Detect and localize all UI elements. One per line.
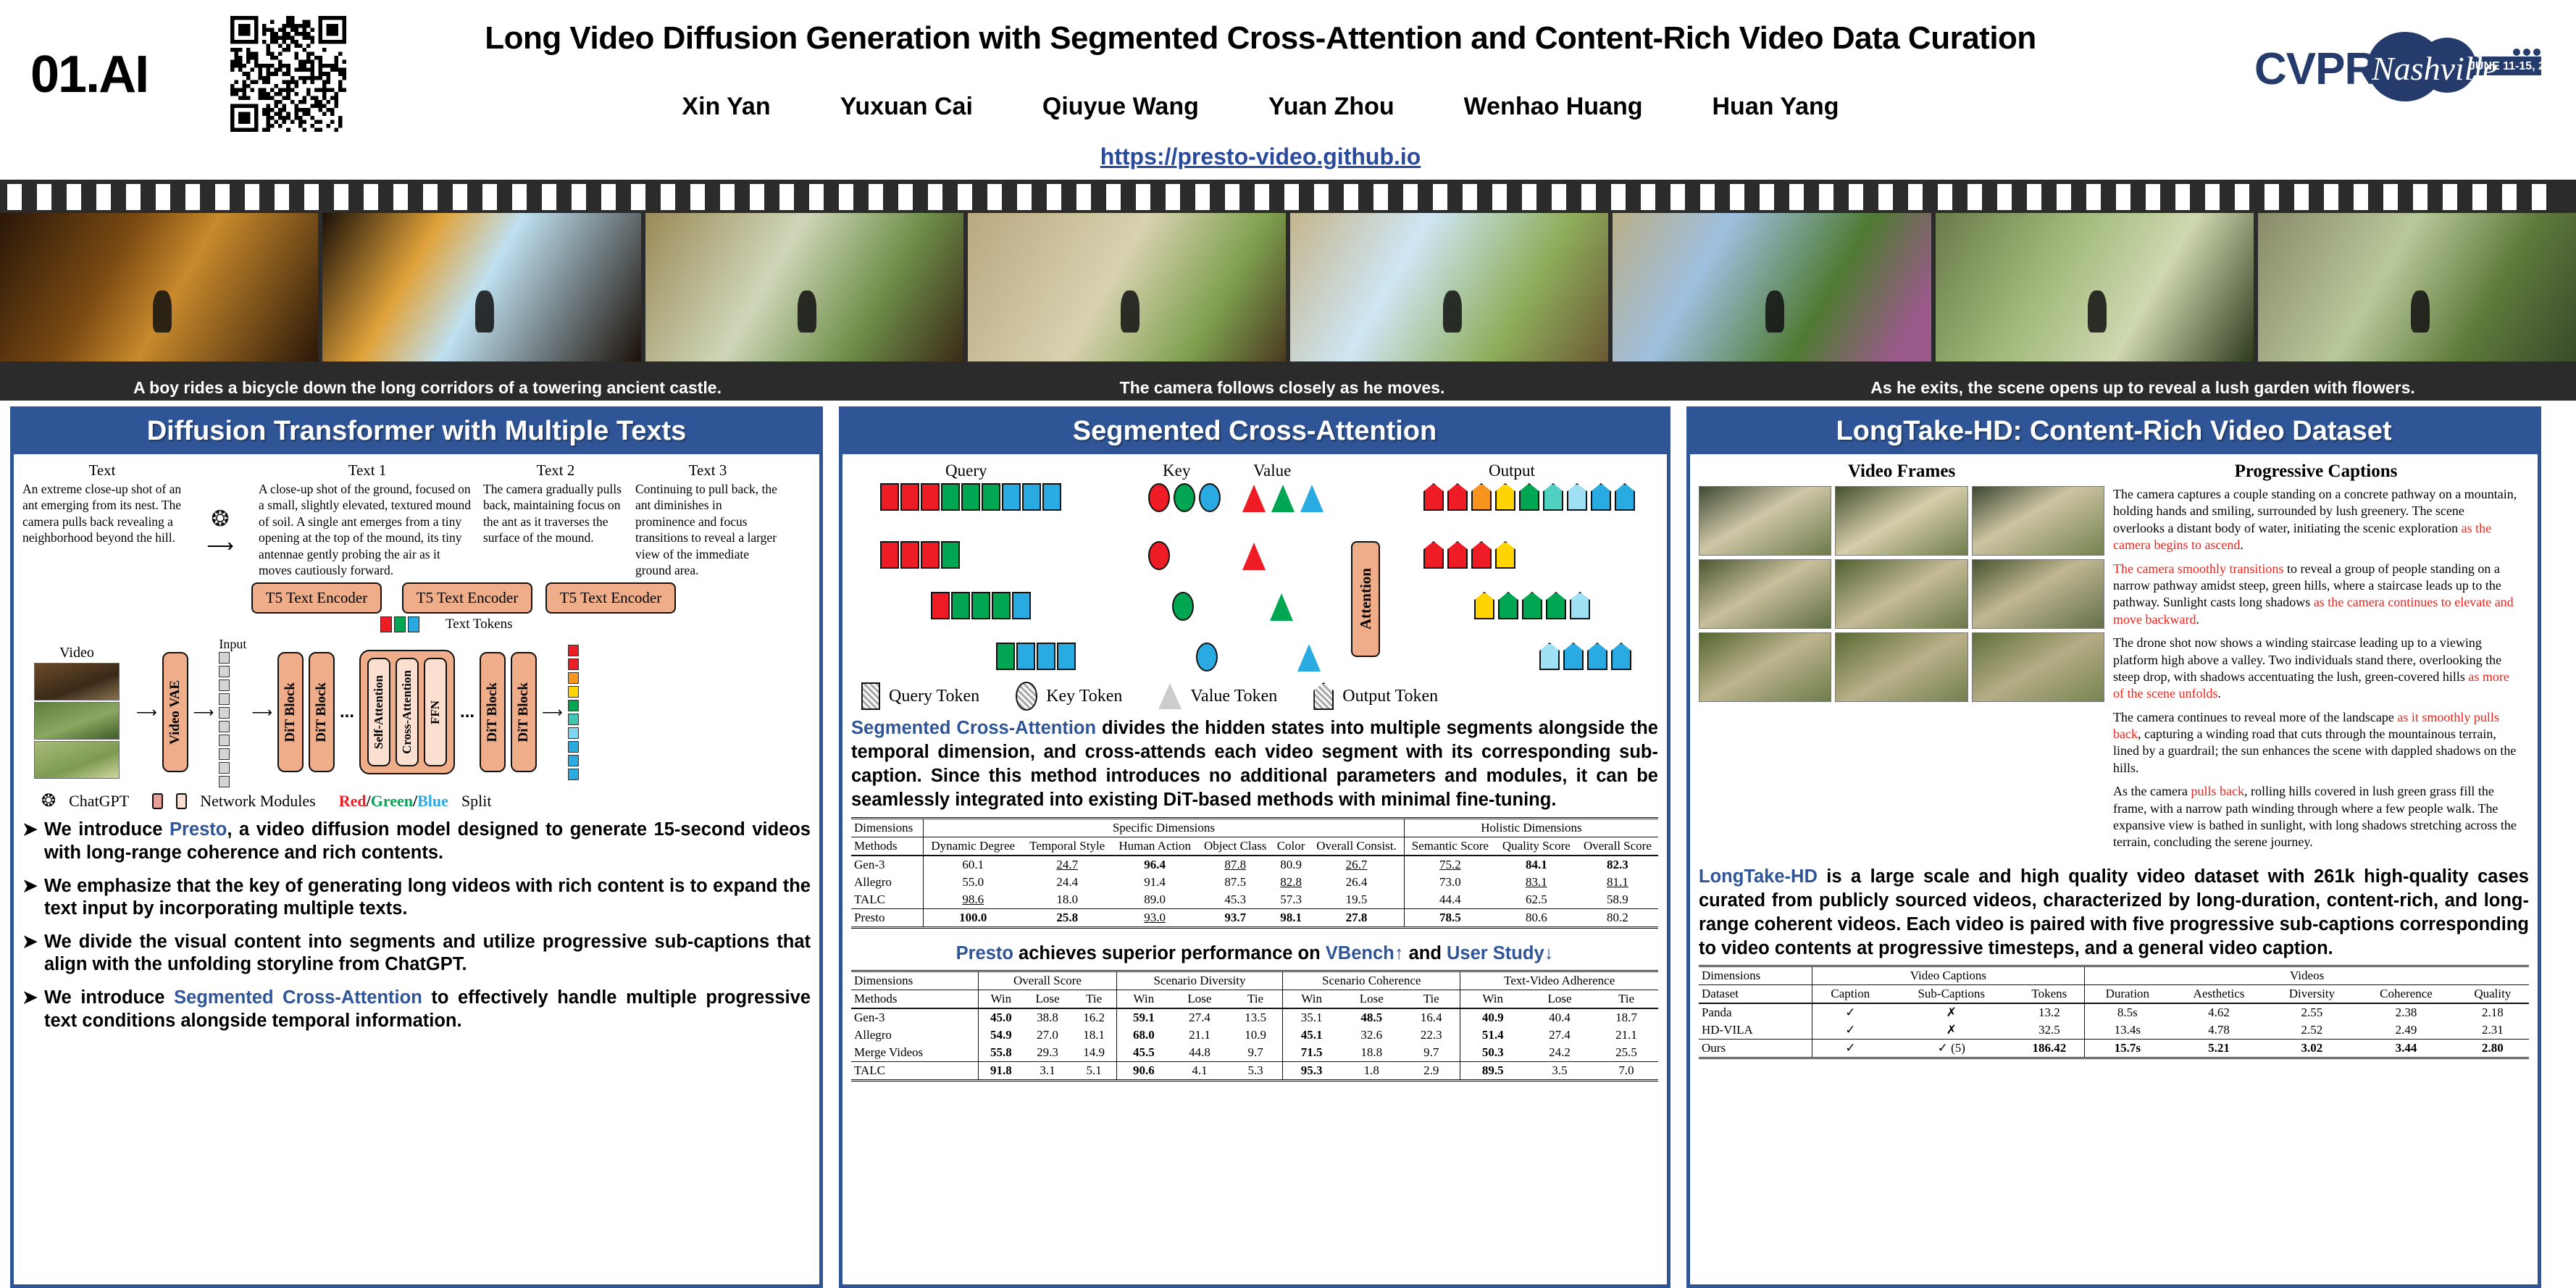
longtake-summary: LongTake-HD is a large scale and high qu…	[1699, 865, 2529, 961]
token-legend: Query Token Key Token Value Token Output…	[851, 682, 1658, 711]
film-perforation	[1641, 184, 1655, 210]
film-perforation	[2146, 184, 2160, 210]
panel-body-mid: Query Key Value Output Attention	[842, 454, 1667, 1284]
input-latent-token	[219, 721, 230, 732]
query-token	[1042, 483, 1061, 511]
project-url-link[interactable]: https://presto-video.github.io	[362, 143, 2159, 170]
input-latent-token	[219, 707, 230, 719]
output-token	[1539, 643, 1560, 670]
query-token	[1012, 592, 1031, 619]
bullet-arrow-icon: ➤	[22, 931, 38, 977]
film-frame-2	[322, 213, 640, 361]
user-study-table: DimensionsOverall ScoreScenario Diversit…	[851, 970, 1658, 1084]
attention-block: Attention	[1351, 541, 1380, 657]
author-name: Huan Yang	[1713, 93, 1839, 121]
film-perforation	[2383, 184, 2398, 210]
video-frame-thumb-3	[1972, 486, 2104, 556]
film-frame-3	[645, 213, 963, 361]
film-perforation	[572, 184, 586, 210]
output-token	[1474, 592, 1494, 619]
film-perforation	[37, 184, 51, 210]
token-green	[394, 616, 406, 632]
panel-body-right: Video Frames Progressive Captions The ca…	[1690, 454, 2538, 1284]
dit-block-expanded: Self-Attention Cross-Attention FFN	[359, 650, 455, 774]
film-perforation	[2116, 184, 2130, 210]
film-perforation	[631, 184, 645, 210]
dit-block-4: DiT Block	[511, 652, 537, 772]
author-name: Qiuyue Wang	[1042, 93, 1199, 121]
film-perforation	[1819, 184, 1833, 210]
bullet-item: ➤ We emphasize that the key of generatin…	[22, 875, 811, 921]
text-col-body: A close-up shot of the ground, focused o…	[259, 481, 476, 578]
dit-block-label: DiT Block	[283, 682, 298, 743]
film-perforation	[542, 184, 556, 210]
value-token-row	[1242, 485, 1323, 512]
text-col-heading: Text 2	[483, 461, 628, 480]
input-label: Input	[219, 637, 246, 652]
film-perforation	[690, 184, 705, 210]
cross-attention-label: Cross-Attention	[400, 670, 414, 754]
query-token	[880, 483, 899, 511]
film-perforation	[2502, 184, 2517, 210]
film-perforation	[1106, 184, 1121, 210]
sca-description-highlight: Segmented Cross-Attention	[851, 718, 1096, 738]
text-column-3: Text 3 Continuing to pull back, the ant …	[635, 461, 780, 578]
film-perforation	[1581, 184, 1596, 210]
film-perforation	[334, 184, 348, 210]
query-segment-1	[880, 541, 960, 569]
token-red	[380, 616, 392, 632]
legend-module-swatch-light	[176, 793, 187, 809]
panel-segmented-cross-attention: Segmented Cross-Attention Query Key Valu…	[839, 406, 1670, 1288]
output-label: Output	[1489, 461, 1535, 480]
output-token-icon	[1313, 682, 1334, 710]
page-title: Long Video Diffusion Generation with Seg…	[362, 20, 2159, 57]
film-perforation	[423, 184, 438, 210]
longtake-summary-highlight: LongTake-HD	[1699, 866, 1818, 887]
key-segment-2	[1172, 592, 1194, 624]
text-col-body: The camera gradually pulls back, maintai…	[483, 481, 628, 546]
key-label: Key	[1163, 461, 1190, 480]
legend-blue-label: Blue	[417, 792, 448, 810]
input-latent-token	[219, 748, 230, 760]
author-name: Xin Yan	[682, 93, 770, 121]
text-column-1: Text 1 A close-up shot of the ground, fo…	[259, 461, 476, 578]
film-perforation	[1166, 184, 1180, 210]
claim-mid: achieves superior performance on	[1013, 943, 1326, 963]
text-token-swatches	[380, 616, 419, 632]
arrow-to-output-icon: ⟶	[542, 703, 563, 722]
output-token	[1546, 592, 1566, 619]
film-perforation	[869, 184, 883, 210]
left-bullet-list: ➤ We introduce Presto, a video diffusion…	[22, 819, 811, 1032]
video-thumb-1	[34, 663, 120, 701]
video-frame-thumb-2	[1835, 486, 1967, 556]
query-token	[900, 541, 919, 569]
film-caption-3: As he exits, the scene opens up to revea…	[1710, 376, 2576, 399]
key-token	[1148, 483, 1170, 512]
progressive-caption-5: As the camera pulls back, rolling hills …	[2113, 783, 2519, 851]
output-segment-1	[1423, 541, 1515, 569]
cyclist-silhouette	[1443, 290, 1462, 333]
film-perforation	[898, 184, 913, 210]
film-frame-5	[1290, 213, 1608, 361]
output-token	[1591, 483, 1611, 511]
film-perforation	[1670, 184, 1685, 210]
input-latent-token	[219, 776, 230, 787]
film-perforation	[1314, 184, 1329, 210]
film-perforation	[215, 184, 230, 210]
film-perforation	[393, 184, 408, 210]
film-caption-text: The camera follows closely as he moves.	[1120, 378, 1445, 398]
film-perforation	[1463, 184, 1477, 210]
query-token	[941, 483, 960, 511]
film-perforation	[1017, 184, 1032, 210]
film-perforation	[2205, 184, 2220, 210]
film-perforation	[1611, 184, 1626, 210]
claim-vbench: VBench↑	[1326, 943, 1404, 963]
text-column-2: Text 2 The camera gradually pulls back, …	[483, 461, 628, 546]
output-token	[568, 686, 579, 698]
panel-title-right: LongTake-HD: Content-Rich Video Dataset	[1690, 410, 2538, 454]
film-perforation	[2175, 184, 2190, 210]
film-perforation	[453, 184, 467, 210]
query-token	[1016, 643, 1035, 670]
film-perforation	[2235, 184, 2249, 210]
output-token	[1570, 592, 1590, 619]
org-logo: 01.AI	[30, 45, 148, 104]
cyclist-silhouette	[1121, 290, 1139, 333]
film-perforation	[156, 184, 170, 210]
query-segment-2	[931, 592, 1031, 619]
output-token	[1567, 483, 1587, 511]
ffn-label: FFN	[428, 701, 443, 724]
author-list: Xin Yan Yuxuan Cai Qiuyue Wang Yuan Zhou…	[362, 93, 2159, 121]
film-perforation	[1849, 184, 1863, 210]
value-token	[1300, 485, 1323, 512]
text-tokens-label: Text Tokens	[446, 616, 513, 632]
value-segment-1	[1242, 543, 1266, 574]
text-col-heading: Text 1	[259, 461, 476, 480]
dit-block-label: DiT Block	[485, 682, 501, 743]
query-token	[982, 483, 1000, 511]
progressive-captions-column: Progressive Captions The camera captures…	[2113, 461, 2519, 858]
bullet-highlight: Presto	[170, 819, 227, 840]
film-caption-1: A boy rides a bicycle down the long corr…	[0, 376, 855, 399]
dit-block-label: DiT Block	[314, 682, 330, 743]
output-token	[1471, 483, 1492, 511]
film-frames	[0, 213, 2576, 361]
bullet-item: ➤ We divide the visual content into segm…	[22, 931, 811, 977]
panel-longtake-hd: LongTake-HD: Content-Rich Video Dataset …	[1686, 406, 2541, 1288]
input-latent-token	[219, 679, 230, 691]
t5-encoder-row: T5 Text Encoder T5 Text Encoder T5 Text …	[22, 582, 811, 614]
self-attention-label: Self-Attention	[372, 675, 386, 749]
output-token	[1423, 483, 1444, 511]
claim-line: Presto achieves superior performance on …	[851, 942, 1658, 966]
film-perforation	[1195, 184, 1210, 210]
film-perforation	[2354, 184, 2368, 210]
film-perforation	[1433, 184, 1447, 210]
sca-diagram: Query Key Value Output Attention	[851, 461, 1658, 679]
legend-chatgpt-label: ChatGPT	[69, 792, 129, 811]
film-perforation	[126, 184, 141, 210]
output-token	[1543, 483, 1563, 511]
video-frame-thumb-8	[1835, 632, 1967, 702]
video-frames-column: Video Frames	[1699, 461, 2104, 858]
film-perforation	[512, 184, 527, 210]
progressive-caption-4: The camera continues to reveal more of t…	[2113, 709, 2519, 777]
dit-block-3: DiT Block	[480, 652, 506, 772]
input-token-stack	[219, 652, 246, 787]
output-token	[568, 741, 579, 753]
video-frame-thumb-4	[1699, 559, 1831, 629]
film-perforation	[2265, 184, 2279, 210]
output-token	[1498, 592, 1518, 619]
t5-text-encoder-2: T5 Text Encoder	[402, 582, 532, 614]
film-perforation	[1730, 184, 1744, 210]
output-token	[1587, 643, 1607, 670]
bullet-text-pre: We divide the visual content into segmen…	[44, 931, 811, 977]
cyclist-silhouette	[1765, 290, 1784, 333]
film-perforation	[1878, 184, 1893, 210]
output-token	[1522, 592, 1542, 619]
legend-red-label: Red	[339, 792, 367, 810]
output-token	[1615, 483, 1635, 511]
film-perforation	[185, 184, 200, 210]
progressive-caption-list: The camera captures a couple standing on…	[2113, 486, 2519, 851]
text-col-body: An extreme close-up shot of an ant emerg…	[22, 481, 182, 546]
film-frame-6	[1613, 213, 1931, 361]
film-perforation	[1789, 184, 1804, 210]
progressive-caption-2: The camera smoothly transitions to revea…	[2113, 561, 2519, 629]
attention-label: Attention	[1357, 568, 1375, 630]
film-perforation	[661, 184, 675, 210]
film-perforation	[245, 184, 259, 210]
query-token	[931, 592, 950, 619]
output-token	[1447, 483, 1468, 511]
bullet-item: ➤ We introduce Presto, a video diffusion…	[22, 819, 811, 864]
film-perforation	[364, 184, 378, 210]
video-vae-label: Video VAE	[167, 680, 183, 745]
film-perforation	[720, 184, 735, 210]
ellipsis-left: ...	[340, 702, 354, 722]
value-label: Value	[1253, 461, 1291, 480]
cyclist-silhouette	[2088, 290, 2107, 333]
film-perforation	[1552, 184, 1566, 210]
video-vae-block: Video VAE	[162, 652, 188, 772]
output-token	[568, 769, 579, 780]
chatgpt-icon: ❂	[189, 506, 251, 532]
film-strip: A boy rides a bicycle down the long corr…	[0, 180, 2576, 401]
query-token	[951, 592, 970, 619]
output-token	[1495, 483, 1515, 511]
value-token	[1242, 485, 1266, 512]
cvpr-dates: JUNE 11-15, 2025	[2469, 60, 2551, 72]
key-segment-3	[1196, 643, 1218, 675]
claim-and: and	[1404, 943, 1447, 963]
film-perforation	[304, 184, 319, 210]
longtake-summary-rest: is a large scale and high quality video …	[1699, 866, 2529, 958]
video-frame-thumb-9	[1972, 632, 2104, 702]
film-perforation	[1700, 184, 1715, 210]
qr-code[interactable]	[230, 16, 346, 132]
value-segment-3	[1297, 644, 1321, 675]
text-col-body: Continuing to pull back, the ant diminis…	[635, 481, 780, 578]
key-token	[1199, 483, 1221, 512]
video-frame-thumb-6	[1972, 559, 2104, 629]
bullet-arrow-icon: ➤	[22, 875, 38, 921]
left-legend: ❂ ChatGPT Network Modules Red/Green/Blue…	[22, 790, 811, 811]
film-perforation	[2027, 184, 2041, 210]
film-frame-7	[1936, 213, 2254, 361]
bullet-item: ➤ We introduce Segmented Cross-Attention…	[22, 987, 811, 1032]
ellipsis-right: ...	[460, 702, 474, 722]
film-caption-text: A boy rides a bicycle down the long corr…	[133, 378, 722, 398]
film-caption-2: The camera follows closely as he moves.	[855, 376, 1710, 399]
video-frame-thumb-5	[1835, 559, 1967, 629]
legend-network-modules-label: Network Modules	[200, 792, 315, 811]
film-perforation	[1373, 184, 1388, 210]
key-segment-1	[1148, 541, 1170, 574]
arrow-input-to-dit-icon: ⟶	[251, 703, 272, 722]
value-token-icon	[1158, 683, 1182, 709]
film-perforation	[2057, 184, 2071, 210]
value-token-legend-label: Value Token	[1190, 687, 1277, 706]
output-token	[568, 700, 579, 711]
key-token	[1174, 483, 1195, 512]
film-perforation	[1403, 184, 1418, 210]
film-perforation	[275, 184, 289, 210]
output-token	[1495, 541, 1515, 569]
ffn-block: FFN	[424, 658, 447, 766]
cyclist-silhouette	[153, 290, 172, 333]
bullet-highlight: Segmented Cross-Attention	[174, 987, 422, 1008]
cyclist-silhouette	[798, 290, 816, 333]
key-token-icon	[1016, 682, 1037, 711]
query-token	[900, 483, 919, 511]
query-token	[1057, 643, 1076, 670]
film-perforation	[1492, 184, 1507, 210]
right-top-row: Video Frames Progressive Captions The ca…	[1699, 461, 2529, 858]
video-frame-thumb-7	[1699, 632, 1831, 702]
output-token	[568, 714, 579, 725]
output-token-row	[1423, 483, 1635, 511]
query-token	[880, 541, 899, 569]
progressive-caption-3: The drone shot now shows a winding stair…	[2113, 635, 2519, 703]
query-token-legend-label: Query Token	[889, 687, 979, 706]
film-perforation	[67, 184, 81, 210]
film-perforation	[928, 184, 942, 210]
qr-code-icon	[230, 16, 346, 132]
output-token	[1447, 541, 1468, 569]
legend-green-label: Green	[371, 792, 413, 810]
chatgpt-transform: ❂ ⟶	[189, 461, 251, 555]
network-diagram: Video ⟶ Video VAE ⟶ Input ⟶ DiT Block Di…	[22, 637, 811, 787]
film-perforation	[1255, 184, 1269, 210]
author-name: Wenhao Huang	[1464, 93, 1643, 121]
query-token-row	[880, 483, 1061, 511]
claim-presto: Presto	[956, 943, 1013, 963]
text-token-rgb-row: Text Tokens	[22, 616, 811, 632]
bullet-text-pre: We emphasize that the key of generating …	[44, 875, 811, 921]
input-latent-token	[219, 693, 230, 705]
text-prompt-columns: Text An extreme close-up shot of an ant …	[22, 461, 811, 578]
legend-split-label: Split	[461, 792, 492, 811]
legend-module-swatch-dark	[152, 793, 163, 809]
dit-block-1: DiT Block	[277, 652, 304, 772]
film-perforation	[2443, 184, 2457, 210]
film-perforation	[482, 184, 497, 210]
sca-description: Segmented Cross-Attention divides the hi…	[851, 716, 1658, 813]
input-latent-token	[219, 735, 230, 746]
film-perforation	[2324, 184, 2338, 210]
output-token	[1423, 541, 1444, 569]
video-frames-grid	[1699, 486, 2104, 702]
bullet-text-pre: We introduce	[44, 819, 170, 840]
query-token	[1022, 483, 1041, 511]
film-perforation	[1760, 184, 1774, 210]
author-name: Yuan Zhou	[1268, 93, 1394, 121]
film-perforation	[958, 184, 972, 210]
bullet-text-pre: We introduce	[44, 987, 174, 1008]
text-col-heading: Text	[22, 461, 182, 480]
video-thumb-2	[34, 702, 120, 740]
film-perforation	[1997, 184, 2012, 210]
token-blue	[408, 616, 419, 632]
film-perforation	[1225, 184, 1239, 210]
dit-block-2: DiT Block	[309, 652, 335, 772]
arrow-right-icon: ⟶	[189, 536, 251, 555]
output-token	[568, 672, 579, 684]
panel-diffusion-transformer: Diffusion Transformer with Multiple Text…	[10, 406, 823, 1288]
film-perforation	[96, 184, 111, 210]
input-latent-token	[219, 652, 230, 664]
output-segment-2	[1474, 592, 1590, 619]
output-token	[568, 727, 579, 739]
claim-user-study: User Study↓	[1447, 943, 1553, 963]
video-thumb-3	[34, 741, 120, 779]
film-perforation	[779, 184, 794, 210]
bullet-arrow-icon: ➤	[22, 819, 38, 864]
panel-title-mid: Segmented Cross-Attention	[842, 410, 1667, 454]
query-token	[992, 592, 1011, 619]
query-token	[961, 483, 980, 511]
dataset-comparison-table: DimensionsVideo CaptionsVideosDatasetCap…	[1699, 965, 2529, 1062]
poster-header: 01.AI Long Video Diffusion Generation wi…	[0, 0, 2576, 180]
cvpr-nashville-logo-icon: CVPR Nashville JUNE 11-15, 2025	[2247, 25, 2551, 110]
key-token-legend-label: Key Token	[1046, 687, 1122, 706]
film-perforation	[987, 184, 1002, 210]
film-perforation	[2532, 184, 2546, 210]
query-token	[921, 483, 940, 511]
author-name: Yuxuan Cai	[840, 93, 973, 121]
vbench-table: DimensionsSpecific DimensionsHolistic Di…	[851, 817, 1658, 932]
key-token-row	[1148, 483, 1221, 512]
film-perforation	[2472, 184, 2487, 210]
t5-text-encoder-3: T5 Text Encoder	[545, 582, 676, 614]
input-latent-column: Input	[219, 637, 246, 787]
film-frame-1	[0, 213, 318, 361]
film-perforation	[7, 184, 22, 210]
film-frame-4	[968, 213, 1286, 361]
film-perforation	[601, 184, 616, 210]
query-token	[996, 643, 1015, 670]
output-token	[568, 658, 579, 670]
query-segment-3	[996, 643, 1076, 670]
output-token	[1611, 643, 1631, 670]
panel-title-left: Diffusion Transformer with Multiple Text…	[14, 410, 819, 454]
